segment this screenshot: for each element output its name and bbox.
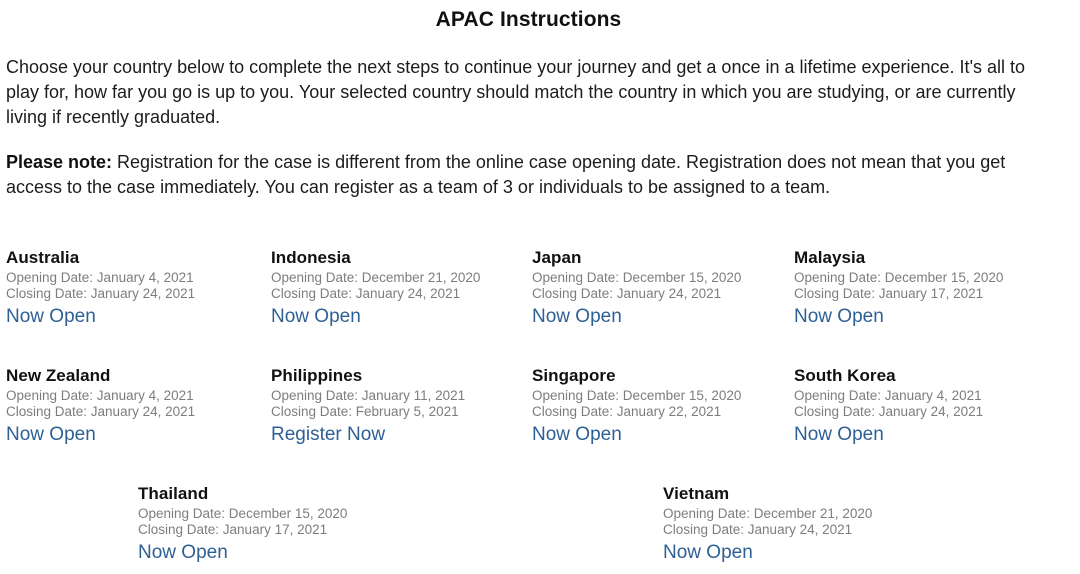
country-card-new-zealand[interactable]: New Zealand Opening Date: January 4, 202… [6, 366, 268, 447]
closing-date: Closing Date: January 24, 2021 [6, 404, 268, 420]
closing-date: Closing Date: January 24, 2021 [794, 404, 1056, 420]
closing-date: Closing Date: February 5, 2021 [271, 404, 533, 420]
country-card-singapore[interactable]: Singapore Opening Date: December 15, 202… [532, 366, 794, 447]
opening-date: Opening Date: January 4, 2021 [6, 388, 268, 404]
country-name: Thailand [138, 484, 400, 504]
status-link[interactable]: Now Open [6, 305, 96, 329]
country-card-thailand[interactable]: Thailand Opening Date: December 15, 2020… [138, 484, 400, 565]
please-note-text: Registration for the case is different f… [6, 152, 1005, 197]
country-card-south-korea[interactable]: South Korea Opening Date: January 4, 202… [794, 366, 1056, 447]
status-link[interactable]: Now Open [6, 423, 96, 447]
apac-instructions-page: APAC Instructions Choose your country be… [0, 0, 1080, 567]
status-link[interactable]: Now Open [271, 305, 361, 329]
closing-date: Closing Date: January 24, 2021 [532, 286, 794, 302]
please-note-paragraph: Please note: Registration for the case i… [6, 150, 1052, 200]
country-name: Malaysia [794, 248, 1056, 268]
country-name: Australia [6, 248, 268, 268]
country-name: Vietnam [663, 484, 925, 504]
opening-date: Opening Date: January 11, 2021 [271, 388, 533, 404]
opening-date: Opening Date: December 21, 2020 [663, 506, 925, 522]
intro-text-block: Choose your country below to complete th… [6, 55, 1052, 200]
country-name: Japan [532, 248, 794, 268]
intro-paragraph: Choose your country below to complete th… [6, 55, 1052, 130]
closing-date: Closing Date: January 24, 2021 [663, 522, 925, 538]
country-grid: Australia Opening Date: January 4, 2021 … [0, 248, 1080, 574]
closing-date: Closing Date: January 22, 2021 [532, 404, 794, 420]
status-link[interactable]: Now Open [532, 305, 622, 329]
closing-date: Closing Date: January 17, 2021 [138, 522, 400, 538]
closing-date: Closing Date: January 24, 2021 [6, 286, 268, 302]
country-card-japan[interactable]: Japan Opening Date: December 15, 2020 Cl… [532, 248, 794, 329]
status-link[interactable]: Now Open [794, 423, 884, 447]
please-note-label: Please note: [6, 152, 112, 172]
opening-date: Opening Date: January 4, 2021 [794, 388, 1056, 404]
status-link[interactable]: Now Open [532, 423, 622, 447]
opening-date: Opening Date: December 15, 2020 [532, 270, 794, 286]
opening-date: Opening Date: January 4, 2021 [6, 270, 268, 286]
page-title: APAC Instructions [0, 8, 1057, 32]
country-card-vietnam[interactable]: Vietnam Opening Date: December 21, 2020 … [663, 484, 925, 565]
country-card-indonesia[interactable]: Indonesia Opening Date: December 21, 202… [271, 248, 533, 329]
opening-date: Opening Date: December 15, 2020 [138, 506, 400, 522]
closing-date: Closing Date: January 24, 2021 [271, 286, 533, 302]
opening-date: Opening Date: December 21, 2020 [271, 270, 533, 286]
closing-date: Closing Date: January 17, 2021 [794, 286, 1056, 302]
country-row: New Zealand Opening Date: January 4, 202… [0, 366, 1080, 484]
country-card-philippines[interactable]: Philippines Opening Date: January 11, 20… [271, 366, 533, 447]
status-link[interactable]: Now Open [663, 541, 753, 565]
country-name: Singapore [532, 366, 794, 386]
status-link[interactable]: Register Now [271, 423, 385, 447]
country-name: South Korea [794, 366, 1056, 386]
country-row: Thailand Opening Date: December 15, 2020… [0, 484, 1080, 574]
country-name: Indonesia [271, 248, 533, 268]
country-name: New Zealand [6, 366, 268, 386]
country-card-malaysia[interactable]: Malaysia Opening Date: December 15, 2020… [794, 248, 1056, 329]
opening-date: Opening Date: December 15, 2020 [794, 270, 1056, 286]
country-card-australia[interactable]: Australia Opening Date: January 4, 2021 … [6, 248, 268, 329]
country-name: Philippines [271, 366, 533, 386]
status-link[interactable]: Now Open [794, 305, 884, 329]
status-link[interactable]: Now Open [138, 541, 228, 565]
opening-date: Opening Date: December 15, 2020 [532, 388, 794, 404]
country-row: Australia Opening Date: January 4, 2021 … [0, 248, 1080, 366]
